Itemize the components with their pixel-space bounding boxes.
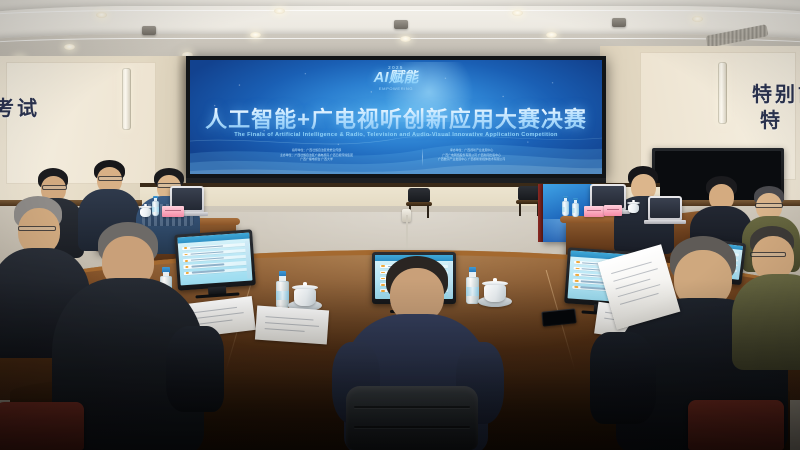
paper-document[interactable] (255, 306, 329, 345)
person-fg-right-2 (736, 226, 800, 366)
led-screen-content: 2025 AI赋能 EMPOWERING 人工智能+广电视听创新应用大赛决赛 T… (190, 60, 602, 174)
organizer-list-right: 承办单位：广西视听产业发展中心 广西广电网络股份有限公司 广西新闻出版中心 广西… (438, 148, 505, 162)
wall-sconce-light (122, 68, 131, 130)
side-chair-right[interactable] (688, 400, 784, 450)
name-placard (584, 206, 604, 217)
ceiling-downlight (274, 8, 285, 14)
logo-sub-text: EMPOWERING (373, 86, 418, 91)
side-chair-left[interactable] (0, 402, 84, 450)
ceiling-downlight (546, 32, 557, 38)
conference-room-photo: 考试 特别前 特 2025 AI赋能 EMPOWERING (0, 0, 800, 450)
tea-cup[interactable] (294, 282, 316, 306)
ceiling-downlight (250, 32, 261, 38)
water-bottle[interactable] (562, 196, 569, 216)
tea-cup[interactable] (140, 204, 151, 217)
name-placard (162, 206, 184, 217)
organizer-list-left: 指导单位：广西壮族自治区党委宣传部 主办单位：广西壮族自治区广播电视局 广西日报… (280, 148, 353, 162)
competition-logo: 2025 AI赋能 EMPOWERING (373, 65, 418, 91)
water-bottle[interactable] (572, 198, 579, 217)
event-title-english: The Finals of Artificial Intelligence & … (234, 132, 558, 138)
tea-cup[interactable] (628, 200, 639, 213)
event-title-chinese: 人工智能+广电视听创新应用大赛决赛 (205, 102, 587, 134)
water-bottle[interactable] (152, 196, 159, 216)
ceiling-speaker-icon (394, 20, 408, 29)
laptop-back-right-2[interactable] (648, 196, 682, 220)
tea-cup[interactable] (484, 278, 506, 302)
ceiling-speaker-icon (142, 26, 156, 35)
ceiling-downlight (400, 36, 411, 42)
right-wall-text-line1: 特别前 (752, 78, 800, 107)
left-wall-text: 考试 (0, 92, 40, 121)
office-chair-center[interactable] (346, 386, 478, 450)
name-placard (604, 205, 622, 216)
ceiling-downlight (512, 10, 523, 16)
right-wall-text-line2: 特 (760, 104, 783, 133)
logo-main-text: AI赋能 (373, 70, 418, 85)
ceiling-speaker-icon (612, 18, 626, 27)
ceiling-downlight (692, 16, 703, 22)
wall-sconce-light (718, 62, 727, 124)
organizer-divider (422, 148, 423, 166)
ceiling-downlight (64, 44, 75, 50)
ceiling-downlight (96, 12, 107, 18)
led-video-wall: 2025 AI赋能 EMPOWERING 人工智能+广电视听创新应用大赛决赛 T… (186, 56, 606, 178)
water-bottle[interactable] (276, 272, 289, 308)
